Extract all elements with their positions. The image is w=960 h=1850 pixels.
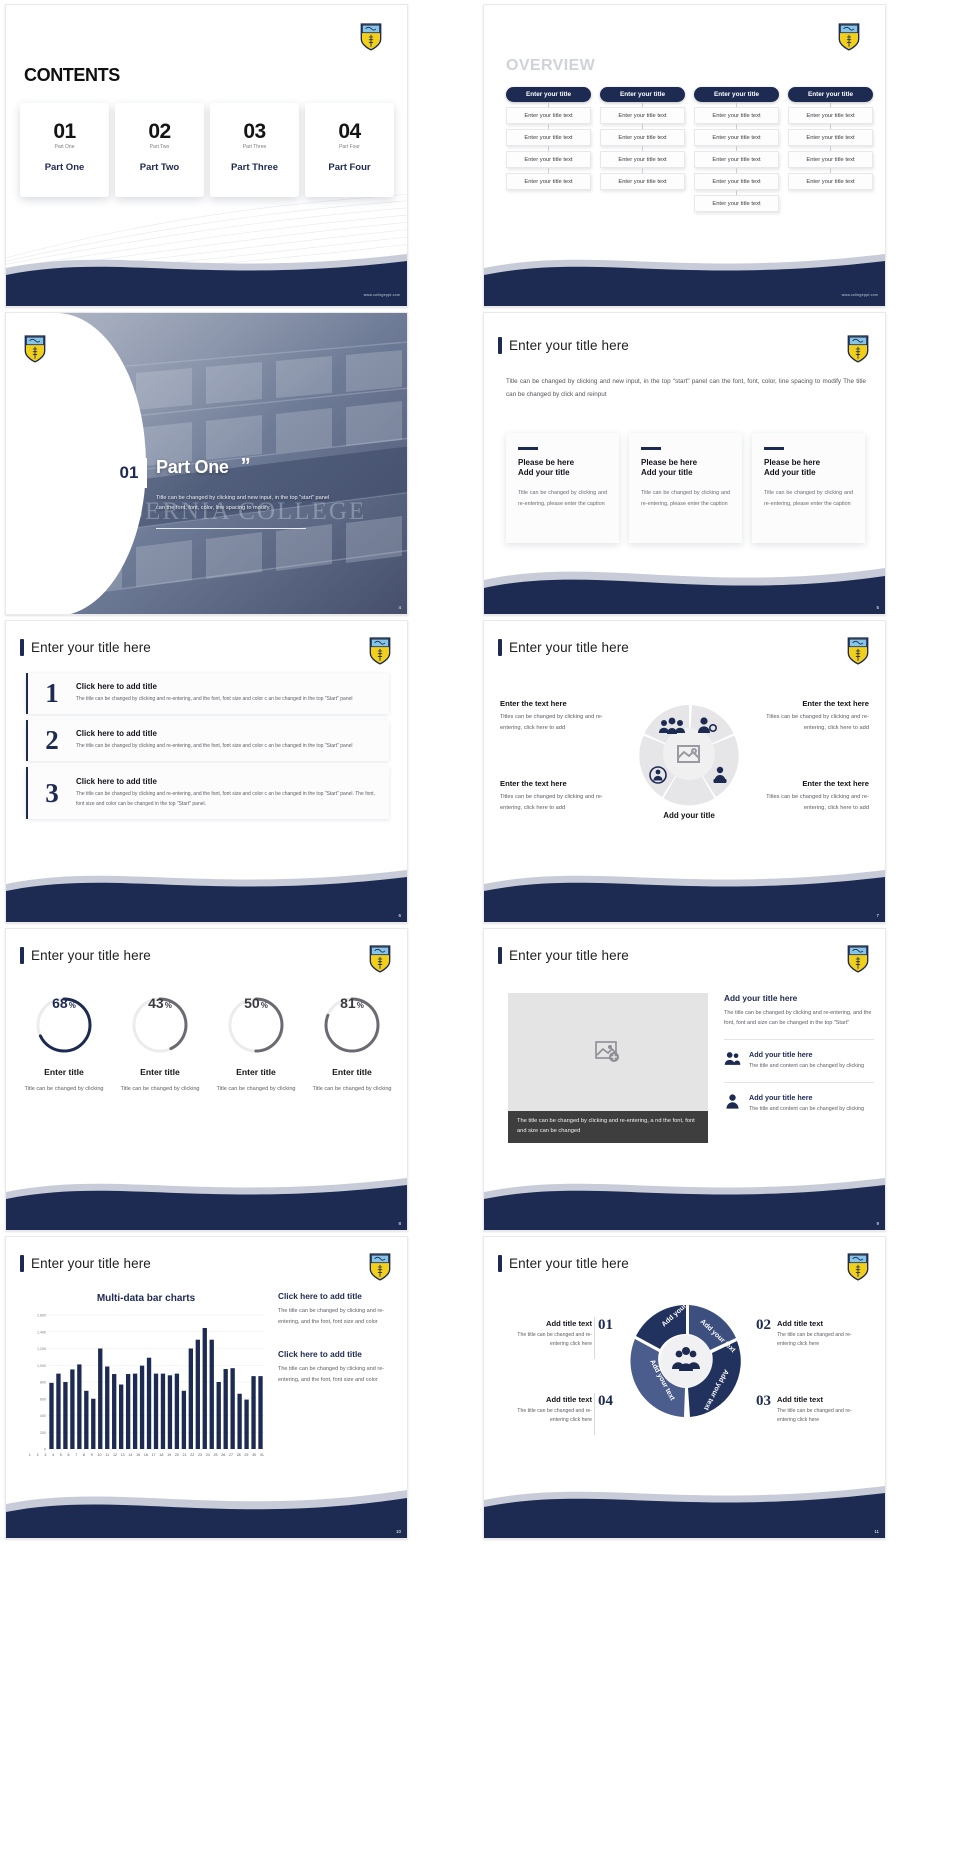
x-axis-tick-label: 19 <box>165 1453 173 1457</box>
diagram-block-top-left[interactable]: Enter the text here Titles can be change… <box>500 699 610 734</box>
x-axis-tick-label: 16 <box>142 1453 150 1457</box>
overview-column: Enter your title Enter your title text E… <box>788 87 873 212</box>
hibernia-college-crest-icon <box>847 637 869 665</box>
bar[interactable] <box>63 1382 67 1449</box>
contents-card-number: 01 <box>20 121 109 142</box>
page-number: 6 <box>398 913 401 918</box>
contents-card[interactable]: 03 Part Three Part Three <box>210 103 299 197</box>
hibernia-college-crest-icon <box>838 23 860 51</box>
diagram-block-bottom-left[interactable]: Enter the text here Titles can be change… <box>500 779 610 814</box>
hibernia-college-crest-icon <box>369 637 391 665</box>
info-card[interactable]: Please be here Add your title Title can … <box>629 433 742 543</box>
bar[interactable] <box>244 1400 248 1449</box>
block-title: Enter the text here <box>500 699 610 708</box>
feature-item[interactable]: Add your title here The title and conten… <box>724 1050 874 1072</box>
title-accent-bar <box>20 639 24 656</box>
bar[interactable] <box>251 1376 255 1449</box>
info-card[interactable]: Please be here Add your title Title can … <box>752 433 865 543</box>
donut-gauge[interactable]: 68 % Enter title Title can be changed by… <box>16 995 112 1095</box>
contents-card-number: 02 <box>115 121 204 142</box>
block-title: Enter the text here <box>759 699 869 708</box>
side-title: Click here to add title <box>278 1349 398 1359</box>
x-axis-tick-label: 27 <box>227 1453 235 1457</box>
row-number: 3 <box>28 780 76 807</box>
x-axis-tick-label: 3 <box>41 1453 49 1457</box>
side-title: Click here to add title <box>278 1291 398 1301</box>
numbered-row[interactable]: 2 Click here to add title The title can … <box>26 720 389 761</box>
page-title-text: Enter your title here <box>31 640 151 655</box>
title-accent-bar <box>20 1255 24 1272</box>
page-title-text: Enter your title here <box>31 948 151 963</box>
x-axis-tick-label: 9 <box>88 1453 96 1457</box>
contents-card-subtitle: Part Four <box>305 144 394 150</box>
block-title: Enter the text here <box>500 779 610 788</box>
bar[interactable] <box>84 1391 88 1449</box>
feature-title: Add your title here <box>749 1050 864 1059</box>
overview-item[interactable]: Enter your title text <box>694 151 779 168</box>
quote-mark-icon: ” <box>241 458 251 474</box>
image-placeholder[interactable] <box>508 993 708 1111</box>
contents-card-subtitle: Part Three <box>210 144 299 150</box>
bar[interactable] <box>126 1374 130 1449</box>
overview-column: Enter your title Enter your title text E… <box>600 87 685 212</box>
cycle-step-number-04: 04 <box>598 1393 613 1410</box>
contents-card-number: 04 <box>305 121 394 142</box>
x-axis-tick-label: 5 <box>57 1453 65 1457</box>
card-list: Please be here Add your title Title can … <box>506 433 865 543</box>
card-title: Please be here Add your title <box>518 458 607 480</box>
bar[interactable] <box>203 1328 207 1449</box>
card-accent-dash <box>641 447 661 450</box>
block-text: Titles can be changed by clicking and re… <box>759 792 869 814</box>
footer-wave <box>6 1166 407 1230</box>
donut-heading: Enter title <box>208 1067 304 1077</box>
step-title: Add title text <box>500 1395 592 1404</box>
hibernia-college-crest-icon <box>847 335 869 363</box>
image-placeholder-icon <box>595 1041 621 1063</box>
person-tie-icon <box>724 1093 741 1115</box>
x-axis-tick-label: 7 <box>72 1453 80 1457</box>
overview-column-header[interactable]: Enter your title <box>788 87 873 102</box>
page-number: 8 <box>398 1221 401 1226</box>
x-axis-tick-label: 25 <box>212 1453 220 1457</box>
step-text: The title can be changed and re-entering… <box>500 1331 592 1349</box>
overview-column-header[interactable]: Enter your title <box>694 87 779 102</box>
x-axis-tick-label: 4 <box>49 1453 57 1457</box>
contents-card[interactable]: 04 Part Four Part Four <box>305 103 394 197</box>
row-number: 1 <box>28 680 76 707</box>
donut-heading: Enter title <box>304 1067 400 1077</box>
overview-item[interactable]: Enter your title text <box>506 107 591 124</box>
y-axis-tick-label: 600 <box>40 1397 46 1401</box>
feature-body: Add your title here The title and conten… <box>749 1050 864 1071</box>
page-title-text: Enter your title here <box>509 948 629 963</box>
card-body: Title can be changed by clicking and re-… <box>641 488 730 509</box>
contents-card-title: Part Four <box>305 162 394 173</box>
bar[interactable] <box>237 1394 241 1449</box>
bar[interactable] <box>105 1367 109 1449</box>
info-card[interactable]: Please be here Add your title Title can … <box>506 433 619 543</box>
donut-value-number: 43 <box>148 995 164 1011</box>
donut-value-number: 50 <box>244 995 260 1011</box>
overview-item[interactable]: Enter your title text <box>600 129 685 146</box>
cycle-step-03[interactable]: Add title text The title can be changed … <box>777 1395 869 1425</box>
wheel-center-label: Add your title <box>634 811 744 820</box>
cycle-step-02[interactable]: Add title text The title can be changed … <box>777 1319 869 1349</box>
x-axis-tick-label: 17 <box>150 1453 158 1457</box>
card-title-line2: Add your title <box>518 468 570 477</box>
footer-url: www.collegeppt.com <box>364 293 400 297</box>
bar-chart-plot: 02004006008001,0001,2001,4001,600 <box>26 1311 266 1451</box>
contents-card-title: Part One <box>20 162 109 173</box>
numbered-row[interactable]: 3 Click here to add title The title can … <box>26 767 389 819</box>
step-title: Add title text <box>777 1395 869 1404</box>
page-number: 4 <box>398 605 401 610</box>
contents-card-list: 01 Part One Part One 02 Part Two Part Tw… <box>20 103 394 197</box>
feature-body: Add your title here The title and conten… <box>749 1093 864 1114</box>
bar[interactable] <box>182 1391 186 1449</box>
x-axis-tick-label: 26 <box>219 1453 227 1457</box>
x-axis-tick-label: 20 <box>173 1453 181 1457</box>
page-number: 7 <box>876 913 879 918</box>
block-text: Titles can be changed by clicking and re… <box>500 792 610 814</box>
overview-item[interactable]: Enter your title text <box>788 173 873 190</box>
card-body: Title can be changed by clicking and re-… <box>518 488 607 509</box>
contents-card-title: Part Three <box>210 162 299 173</box>
bar[interactable] <box>189 1349 193 1450</box>
slide-contents[interactable]: CONTENTS 01 Part One Part One 02 Part Tw… <box>5 4 408 307</box>
row-text: The title can be changed by clicking and… <box>76 742 379 751</box>
overview-column-header[interactable]: Enter your title <box>600 87 685 102</box>
overview-item[interactable]: Enter your title text <box>788 107 873 124</box>
hibernia-college-crest-icon <box>24 335 46 363</box>
cycle-step-01[interactable]: Add title text The title can be changed … <box>500 1319 592 1349</box>
bar[interactable] <box>70 1369 74 1449</box>
bar[interactable] <box>112 1374 116 1449</box>
y-axis-tick-label: 0 <box>44 1448 46 1451</box>
part-badge: 01 Part One ” <box>111 458 251 488</box>
donut-ring: 43 % <box>130 995 190 1055</box>
donut-value: 68 % <box>34 995 94 1055</box>
slide-circle-diagram[interactable]: Enter your title here Enter the text her… <box>483 620 886 923</box>
bar[interactable] <box>210 1340 214 1449</box>
x-axis-tick-label: 12 <box>111 1453 119 1457</box>
step-divider <box>594 1317 595 1359</box>
overview-columns: Enter your title Enter your title text E… <box>506 87 873 212</box>
footer-wave <box>6 1474 407 1538</box>
footer-wave <box>6 858 407 922</box>
overview-item[interactable]: Enter your title text <box>694 195 779 212</box>
overview-column: Enter your title Enter your title text E… <box>506 87 591 212</box>
bar[interactable] <box>217 1382 221 1449</box>
diagram-block-top-right[interactable]: Enter the text here Titles can be change… <box>759 699 869 734</box>
overview-item[interactable]: Enter your title text <box>694 107 779 124</box>
overview-item[interactable]: Enter your title text <box>506 151 591 168</box>
cycle-arrow-diagram[interactable]: Add your text Add your text Add your tex… <box>624 1299 748 1423</box>
slide-bar-chart[interactable]: Enter your title here Multi-data bar cha… <box>5 1236 408 1539</box>
page-title: Enter your title here <box>20 639 151 656</box>
cycle-step-04[interactable]: Add title text The title can be changed … <box>500 1395 592 1425</box>
x-axis-tick-label: 29 <box>243 1453 251 1457</box>
bar[interactable] <box>91 1399 95 1449</box>
overview-item[interactable]: Enter your title text <box>694 173 779 190</box>
donut-value: 50 % <box>226 995 286 1055</box>
hibernia-college-crest-icon <box>369 945 391 973</box>
donut-percent-sign: % <box>261 1001 268 1010</box>
donut-percent-sign: % <box>357 1001 364 1010</box>
x-axis-tick-label: 31 <box>258 1453 266 1457</box>
contents-card-number: 03 <box>210 121 299 142</box>
block-text: Titles can be changed by clicking and re… <box>500 712 610 734</box>
card-body: Title can be changed by clicking and re-… <box>764 488 853 509</box>
title-accent-bar <box>498 639 502 656</box>
donut-gauge[interactable]: 81 % Enter title Title can be changed by… <box>304 995 400 1095</box>
numbered-row-list: 1 Click here to add title The title can … <box>26 673 389 825</box>
x-axis-tick-label: 10 <box>96 1453 104 1457</box>
y-axis-tick-label: 800 <box>40 1381 46 1385</box>
contents-card-subtitle: Part Two <box>115 144 204 150</box>
row-title: Click here to add title <box>76 682 379 691</box>
contents-card[interactable]: 01 Part One Part One <box>20 103 109 197</box>
side-content: Add your title here The title can be cha… <box>724 993 874 1115</box>
hibernia-college-crest-icon <box>369 1253 391 1281</box>
title-accent-bar <box>20 947 24 964</box>
footer-url: www.collegeppt.com <box>842 293 878 297</box>
contents-card-title: Part Two <box>115 162 204 173</box>
numbered-row[interactable]: 1 Click here to add title The title can … <box>26 673 389 714</box>
hibernia-college-crest-icon <box>360 23 382 51</box>
row-text: The title can be changed by clicking and… <box>76 695 379 704</box>
overview-item[interactable]: Enter your title text <box>506 173 591 190</box>
y-axis-tick-label: 1,400 <box>37 1330 46 1334</box>
donut-gauge[interactable]: 50 % Enter title Title can be changed by… <box>208 995 304 1095</box>
slide-donut-gauges[interactable]: Enter your title here 68 % Enter title T… <box>5 928 408 1231</box>
donut-text: Title can be changed by clicking <box>208 1085 304 1095</box>
donut-ring: 50 % <box>226 995 286 1055</box>
overview-item[interactable]: Enter your title text <box>694 129 779 146</box>
card-title-line1: Please be here <box>764 458 820 467</box>
donut-ring: 81 % <box>322 995 382 1055</box>
card-title-line2: Add your title <box>764 468 816 477</box>
donut-gauge[interactable]: 43 % Enter title Title can be changed by… <box>112 995 208 1095</box>
feature-text: The title and content can be changed by … <box>749 1105 864 1114</box>
feature-title: Add your title here <box>749 1093 864 1102</box>
donut-text: Title can be changed by clicking <box>112 1085 208 1095</box>
card-title-line1: Please be here <box>518 458 574 467</box>
x-axis-tick-label: 11 <box>103 1453 111 1457</box>
chart-title: Multi-data bar charts <box>26 1293 266 1304</box>
donut-value-number: 68 <box>52 995 68 1011</box>
donut-percent-sign: % <box>69 1001 76 1010</box>
step-title: Add title text <box>777 1319 869 1328</box>
bar[interactable] <box>77 1364 81 1449</box>
intro-paragraph: Title can be changed by clicking and new… <box>506 375 866 401</box>
side-text: The title can be changed by clicking and… <box>278 1306 398 1327</box>
step-text: The title can be changed and re-entering… <box>500 1407 592 1425</box>
y-axis-tick-label: 1,600 <box>37 1314 46 1318</box>
x-axis-tick-label: 1 <box>26 1453 34 1457</box>
slide-image-and-list[interactable]: Enter your title here The title can be c… <box>483 928 886 1231</box>
overview-item[interactable]: Enter your title text <box>600 173 685 190</box>
page-title: Enter your title here <box>498 639 629 656</box>
page-title-text: Enter your title here <box>509 640 629 655</box>
overview-item[interactable]: Enter your title text <box>600 107 685 124</box>
diagram-block-bottom-right[interactable]: Enter the text here Titles can be change… <box>759 779 869 814</box>
donut-gauge-list: 68 % Enter title Title can be changed by… <box>16 995 400 1095</box>
step-divider <box>594 1393 595 1435</box>
overview-item[interactable]: Enter your title text <box>788 151 873 168</box>
page-title-text: Enter your title here <box>31 1256 151 1271</box>
donut-value: 81 % <box>322 995 382 1055</box>
donut-value-number: 81 <box>340 995 356 1011</box>
y-axis-tick-label: 1,200 <box>37 1347 46 1351</box>
block-title: Enter the text here <box>759 779 869 788</box>
contents-card[interactable]: 02 Part Two Part Two <box>115 103 204 197</box>
donut-percent-sign: % <box>165 1001 172 1010</box>
y-axis-tick-label: 1,000 <box>37 1364 46 1368</box>
slide-three-cards[interactable]: Enter your title here Title can be chang… <box>483 312 886 615</box>
feature-item[interactable]: Add your title here The title and conten… <box>724 1093 874 1115</box>
row-text: The title can be changed by clicking and… <box>76 790 379 809</box>
bar[interactable] <box>224 1369 228 1449</box>
feature-text: The title and content can be changed by … <box>749 1062 864 1071</box>
side-text: The title can be changed by clicking and… <box>278 1364 398 1385</box>
hibernia-college-crest-icon <box>847 945 869 973</box>
image-caption: The title can be changed by clicking and… <box>508 1111 708 1143</box>
footer-wave <box>484 242 885 306</box>
overview-item[interactable]: Enter your title text <box>788 129 873 146</box>
row-title: Click here to add title <box>76 729 379 738</box>
overview-column: Enter your title Enter your title text E… <box>694 87 779 212</box>
page-number: 11 <box>874 1529 879 1534</box>
segmented-wheel-diagram[interactable] <box>634 699 744 809</box>
step-title: Add title text <box>500 1319 592 1328</box>
x-axis-tick-label: 30 <box>250 1453 258 1457</box>
cycle-step-number-03: 03 <box>756 1393 771 1410</box>
footer-wave <box>484 858 885 922</box>
slide-cycle-diagram[interactable]: Enter your title here Add your text <box>483 1236 886 1539</box>
page-number: 9 <box>876 1221 879 1226</box>
y-axis-tick-label: 200 <box>40 1431 46 1435</box>
bar[interactable] <box>154 1374 158 1449</box>
bar[interactable] <box>49 1383 53 1449</box>
page-number: 10 <box>396 1529 401 1534</box>
overview-column-header[interactable]: Enter your title <box>506 87 591 102</box>
bar[interactable] <box>140 1366 144 1449</box>
slide-overview[interactable]: OVERVIEW Enter your title Enter your tit… <box>483 4 886 307</box>
donut-ring: 68 % <box>34 995 94 1055</box>
page-title: Enter your title here <box>20 947 151 964</box>
slide-part-one-divider[interactable]: HIBERNIA COLLEGE 01 Part One ” Title can… <box>5 312 408 615</box>
donut-value: 43 % <box>130 995 190 1055</box>
x-axis-tick-label: 2 <box>34 1453 42 1457</box>
x-axis-tick-label: 15 <box>134 1453 142 1457</box>
title-accent-bar <box>498 947 502 964</box>
bar[interactable] <box>168 1375 172 1449</box>
page-title: Enter your title here <box>498 1255 629 1272</box>
footer-wave <box>484 1474 885 1538</box>
slide-numbered-list[interactable]: Enter your title here 1 Click here to ad… <box>5 620 408 923</box>
overview-item[interactable]: Enter your title text <box>600 151 685 168</box>
page-title-text: Enter your title here <box>509 338 629 353</box>
contents-card-subtitle: Part One <box>20 144 109 150</box>
x-axis-tick-label: 24 <box>204 1453 212 1457</box>
footer-wave <box>484 550 885 614</box>
bar[interactable] <box>119 1385 123 1449</box>
step-text: The title can be changed and re-entering… <box>777 1407 869 1425</box>
overview-item[interactable]: Enter your title text <box>506 129 591 146</box>
divider <box>724 1039 874 1040</box>
two-people-icon <box>724 1050 741 1072</box>
title-accent-bar <box>498 337 502 354</box>
bar[interactable] <box>230 1368 234 1449</box>
card-accent-dash <box>518 447 538 450</box>
row-body: Click here to add title The title can be… <box>76 729 379 751</box>
x-axis-tick-label: 18 <box>157 1453 165 1457</box>
wheel-center <box>663 728 715 780</box>
page-number: 5 <box>876 605 879 610</box>
cycle-step-number-02: 02 <box>756 1317 771 1334</box>
x-axis-tick-label: 6 <box>65 1453 73 1457</box>
donut-heading: Enter title <box>112 1067 208 1077</box>
bar-chart-x-axis-labels: 1234567891011121314151617181920212223242… <box>26 1453 266 1457</box>
row-title: Click here to add title <box>76 777 379 786</box>
row-body: Click here to add title The title can be… <box>76 682 379 704</box>
card-title: Please be here Add your title <box>764 458 853 480</box>
bar[interactable] <box>147 1358 151 1449</box>
card-title: Please be here Add your title <box>641 458 730 480</box>
bar[interactable] <box>133 1374 137 1449</box>
page-title-text: Enter your title here <box>509 1256 629 1271</box>
donut-text: Title can be changed by clicking <box>16 1085 112 1095</box>
x-axis-tick-label: 22 <box>188 1453 196 1457</box>
divider <box>724 1082 874 1083</box>
hibernia-college-crest-icon <box>847 1253 869 1281</box>
page-title: CONTENTS <box>24 65 120 86</box>
x-axis-tick-label: 13 <box>119 1453 127 1457</box>
donut-text: Title can be changed by clicking <box>304 1085 400 1095</box>
page-title: Enter your title here <box>498 337 629 354</box>
part-title: Part One <box>156 458 229 476</box>
bar[interactable] <box>175 1374 179 1449</box>
side-text: The title can be changed by clicking and… <box>724 1008 874 1029</box>
x-axis-tick-label: 8 <box>80 1453 88 1457</box>
page-title: Enter your title here <box>20 1255 151 1272</box>
row-body: Click here to add title The title can be… <box>76 777 379 809</box>
title-accent-bar <box>498 1255 502 1272</box>
bar[interactable] <box>161 1374 165 1449</box>
donut-heading: Enter title <box>16 1067 112 1077</box>
bar[interactable] <box>258 1376 262 1449</box>
step-text: The title can be changed and re-entering… <box>777 1331 869 1349</box>
x-axis-tick-label: 21 <box>181 1453 189 1457</box>
card-accent-dash <box>764 447 784 450</box>
y-axis-tick-label: 400 <box>40 1414 46 1418</box>
footer-wave <box>484 1166 885 1230</box>
bar[interactable] <box>56 1374 60 1449</box>
card-title-line1: Please be here <box>641 458 697 467</box>
part-description: Title can be changed by clicking and new… <box>156 494 336 513</box>
card-title-line2: Add your title <box>641 468 693 477</box>
page-title: Enter your title here <box>498 947 629 964</box>
page-title: OVERVIEW <box>506 57 595 75</box>
bar[interactable] <box>196 1340 200 1449</box>
block-text: Titles can be changed by clicking and re… <box>759 712 869 734</box>
side-content: Click here to add title The title can be… <box>278 1291 398 1386</box>
x-axis-tick-label: 14 <box>127 1453 135 1457</box>
x-axis-tick-label: 23 <box>196 1453 204 1457</box>
bar[interactable] <box>98 1349 102 1450</box>
